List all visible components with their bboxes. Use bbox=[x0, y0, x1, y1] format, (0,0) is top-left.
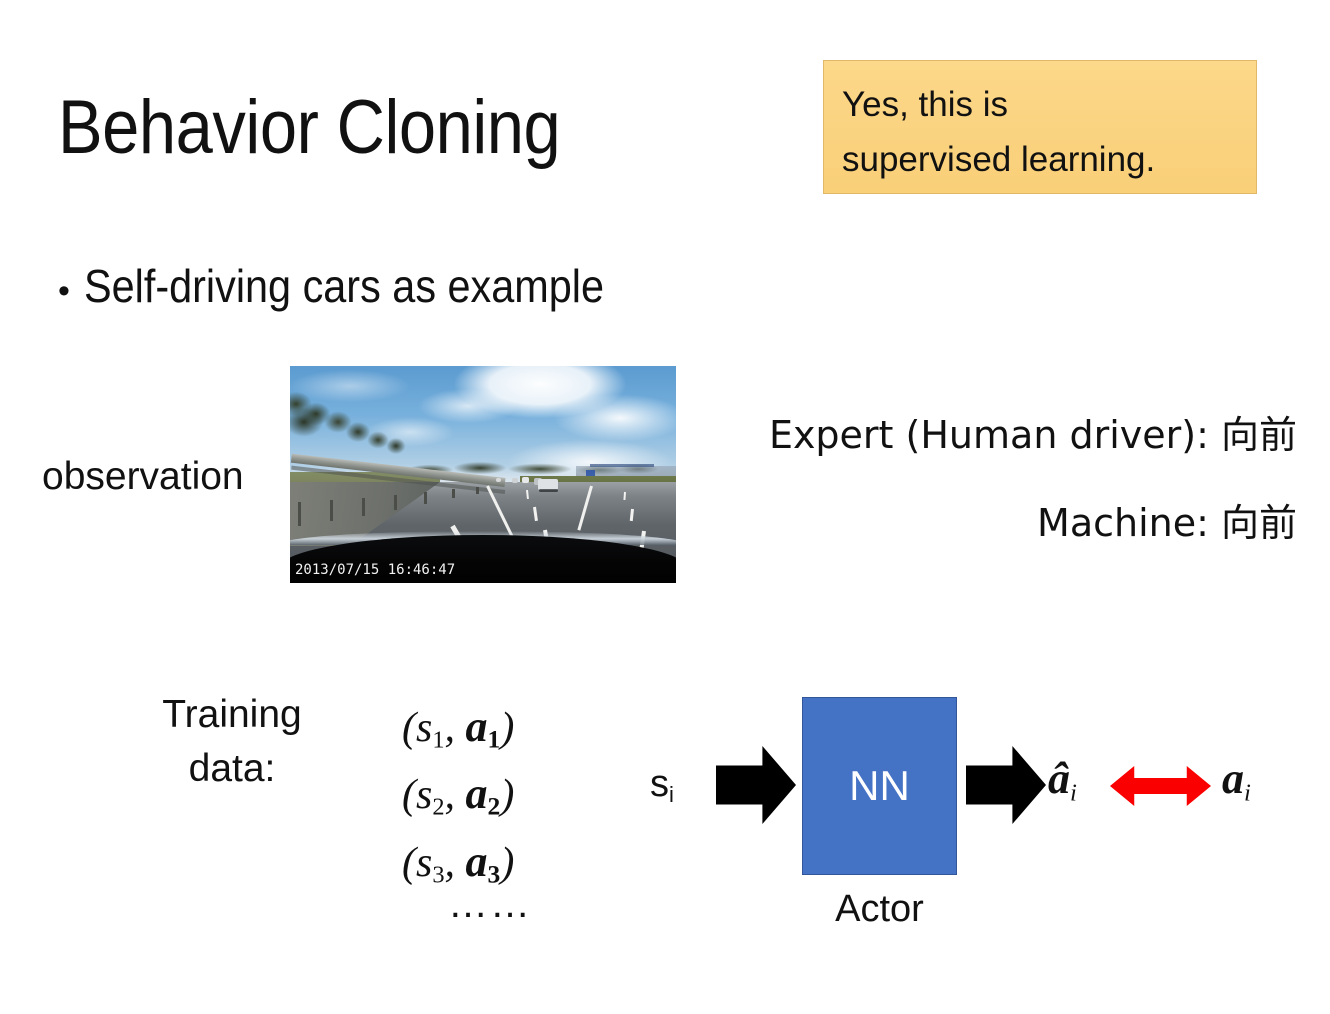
guardrail-post bbox=[424, 492, 427, 504]
double-arrow-icon-compare bbox=[1110, 766, 1211, 806]
bullet-text: Self-driving cars as example bbox=[84, 258, 604, 314]
arrow-right-icon-input bbox=[716, 746, 796, 824]
training-data-label-line1: Training bbox=[144, 688, 320, 742]
bullet-item: • Self-driving cars as example bbox=[58, 258, 662, 314]
training-pairs-ellipsis: …… bbox=[448, 882, 532, 926]
training-pair: (s1, a1) bbox=[402, 700, 582, 767]
network-input-symbol: s bbox=[650, 763, 669, 805]
car-ahead-near-shadow bbox=[539, 489, 558, 492]
car-ahead bbox=[512, 478, 518, 483]
neural-network-box: NN bbox=[802, 697, 957, 875]
callout-box: Yes, this is supervised learning. bbox=[823, 60, 1257, 194]
pair-state-index: 2 bbox=[432, 794, 444, 821]
observation-label: observation bbox=[42, 452, 244, 502]
guardrail-post bbox=[362, 498, 365, 516]
pair-state-symbol: s bbox=[416, 840, 432, 886]
predicted-action-index: i bbox=[1070, 779, 1077, 806]
gantry-structure bbox=[590, 464, 654, 467]
expert-annotation-text: Expert (Human driver): 向前 bbox=[769, 413, 1297, 457]
page-title: Behavior Cloning bbox=[58, 82, 560, 174]
training-pair: (s2, a2) bbox=[402, 767, 582, 834]
target-action-label: ai bbox=[1222, 752, 1251, 820]
guardrail-post bbox=[298, 502, 301, 526]
neural-network-label: NN bbox=[849, 762, 910, 810]
dashcam-photo: 2013/07/15 16:46:47 bbox=[290, 366, 676, 583]
pair-action-index: 2 bbox=[488, 792, 501, 821]
callout-line-1: Yes, this is bbox=[842, 77, 1256, 132]
network-input-index: i bbox=[669, 782, 674, 807]
predicted-action-symbol: â bbox=[1048, 754, 1070, 803]
guardrail-post bbox=[330, 500, 333, 521]
guardrail-post bbox=[394, 495, 397, 510]
machine-annotation-text: Machine: 向前 bbox=[1037, 501, 1297, 545]
guardrail-post bbox=[452, 489, 455, 498]
pair-action-symbol: a bbox=[466, 769, 488, 818]
arrow-right-icon-output bbox=[966, 746, 1046, 824]
expert-annotation: Expert (Human driver): 向前 bbox=[769, 410, 1297, 461]
network-input-label: si bbox=[650, 762, 674, 817]
guardrail-post bbox=[476, 487, 479, 494]
callout-line-2: supervised learning. bbox=[842, 132, 1256, 187]
training-data-label-line2: data: bbox=[144, 742, 320, 796]
car-ahead bbox=[522, 477, 529, 483]
training-pairs-list: (s1, a1) (s2, a2) (s3, a3) bbox=[402, 700, 582, 902]
pair-state-symbol: s bbox=[416, 772, 432, 818]
target-action-index: i bbox=[1244, 779, 1251, 806]
pair-action-symbol: a bbox=[466, 702, 488, 751]
target-action-symbol: a bbox=[1222, 754, 1244, 803]
guardrail bbox=[290, 476, 505, 520]
bullet-marker-icon: • bbox=[58, 274, 70, 308]
timestamp-overlay: 2013/07/15 16:46:47 bbox=[295, 562, 455, 578]
machine-annotation: Machine: 向前 bbox=[1037, 498, 1297, 549]
pair-action-symbol: a bbox=[466, 837, 488, 886]
pair-state-index: 3 bbox=[432, 861, 444, 888]
training-data-label: Training data: bbox=[144, 688, 320, 796]
pair-state-index: 1 bbox=[432, 726, 444, 753]
car-ahead bbox=[496, 478, 501, 482]
predicted-action-label: âi bbox=[1048, 752, 1077, 820]
slide-canvas: Behavior Cloning Yes, this is supervised… bbox=[0, 0, 1330, 1014]
pair-action-index: 1 bbox=[488, 725, 501, 754]
actor-caption: Actor bbox=[802, 885, 957, 933]
pair-state-symbol: s bbox=[416, 705, 432, 751]
